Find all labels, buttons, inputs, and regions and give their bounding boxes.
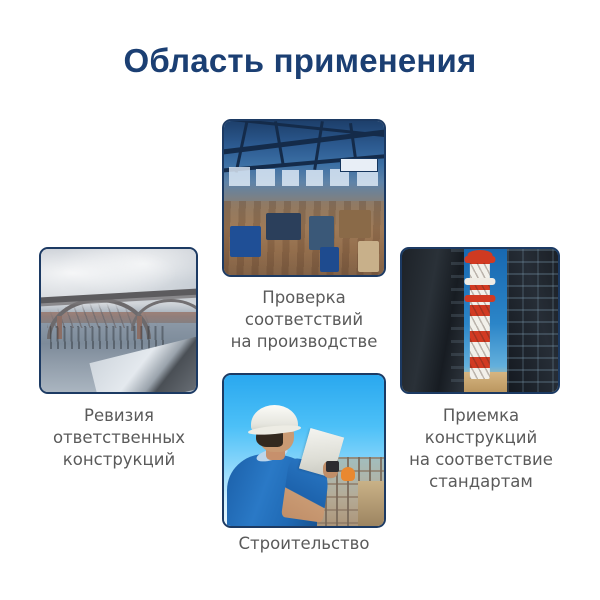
slide-root: Область применения [0, 0, 600, 600]
factory-interior-photo [224, 121, 384, 275]
tower-platform [464, 278, 495, 285]
page-title: Область применения [0, 42, 600, 80]
dark-building-right [507, 249, 558, 392]
construction-photo-frame[interactable] [222, 373, 386, 528]
machine-unit [266, 213, 301, 239]
factory-window [256, 169, 275, 186]
construction-worker-photo [224, 375, 384, 526]
machine-unit [358, 241, 379, 272]
caption-factory: Проверка соответствий на производстве [202, 287, 406, 353]
bridge-photo-frame[interactable] [39, 247, 198, 394]
caption-tower: Приемка конструкций на соответствие стан… [386, 405, 576, 493]
factory-window [229, 167, 250, 185]
concrete-column [358, 481, 384, 526]
caption-construction: Строительство [204, 533, 404, 555]
arch-bridge-photo [41, 249, 196, 392]
tower-photo-frame[interactable] [400, 247, 560, 394]
machine-unit [339, 210, 371, 238]
machine-unit [320, 247, 339, 272]
factory-photo-frame[interactable] [222, 119, 386, 277]
tower-antenna-top [468, 250, 493, 260]
tower-platform [464, 295, 495, 302]
roof-truss-icon [224, 127, 384, 156]
dark-building-left [402, 249, 464, 392]
caption-bridge: Ревизия ответственных конструкций [20, 405, 218, 471]
measuring-device-icon [326, 461, 339, 472]
tower-mast-icon [470, 253, 490, 379]
machine-unit [230, 226, 260, 257]
second-worker-helmet [341, 467, 355, 481]
factory-window [282, 170, 300, 185]
water-reflection [50, 326, 168, 349]
machine-unit [309, 216, 335, 250]
factory-window [306, 170, 324, 185]
factory-sign [340, 158, 377, 172]
telecom-tower-photo [402, 249, 558, 392]
